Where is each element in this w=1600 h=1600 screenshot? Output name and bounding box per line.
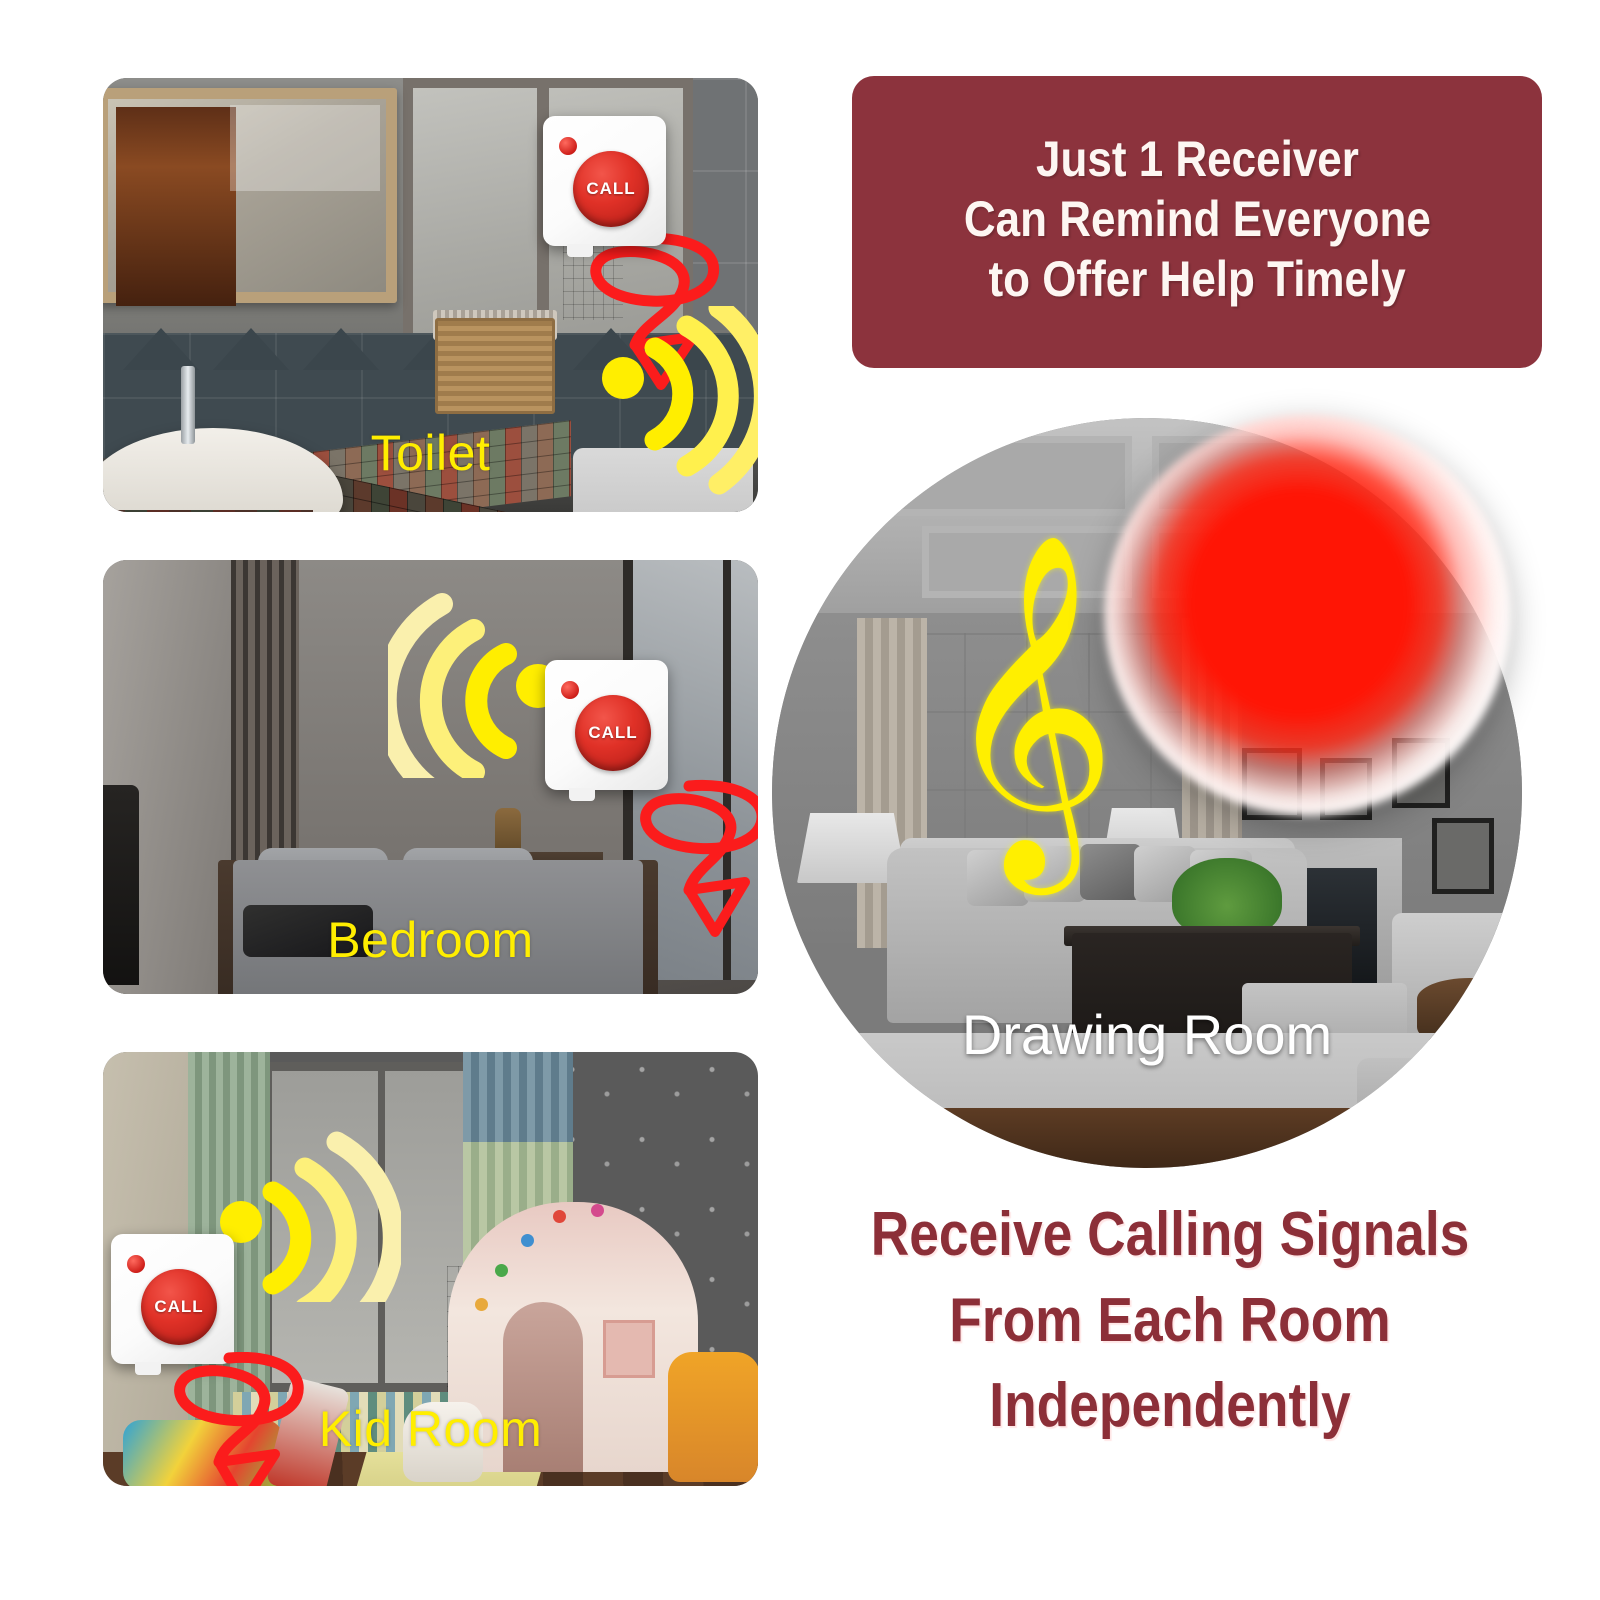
- receiver-device-rim: [1105, 415, 1510, 815]
- room-card-kidroom: CALL Kid Room: [103, 1052, 758, 1486]
- call-button-device-kidroom[interactable]: CALL: [111, 1234, 234, 1364]
- call-button-label: CALL: [586, 179, 635, 199]
- treble-clef-icon: 𝄞: [940, 585, 1117, 825]
- room-card-toilet: CALL Toilet: [103, 78, 758, 512]
- room-label-kidroom: Kid Room: [103, 1404, 758, 1454]
- footer-text-block: Receive Calling Signals From Each Room I…: [790, 1192, 1550, 1449]
- footer-line-3: Independently: [843, 1363, 1497, 1449]
- call-button-device-toilet[interactable]: CALL: [543, 116, 666, 246]
- room-label-bedroom: Bedroom: [103, 915, 758, 965]
- status-led-icon: [127, 1255, 145, 1273]
- call-button-label: CALL: [154, 1297, 203, 1317]
- headline-line-2: Can Remind Everyone: [963, 189, 1430, 249]
- footer-line-1: Receive Calling Signals: [843, 1192, 1497, 1278]
- status-led-icon: [561, 681, 579, 699]
- room-label-drawing-room: Drawing Room: [772, 1002, 1522, 1067]
- headline-banner: Just 1 Receiver Can Remind Everyone to O…: [852, 76, 1542, 368]
- headline-line-3: to Offer Help Timely: [988, 249, 1405, 309]
- call-button[interactable]: CALL: [575, 695, 651, 771]
- call-button-device-bedroom[interactable]: CALL: [545, 660, 668, 790]
- room-card-bedroom: CALL Bedroom: [103, 560, 758, 994]
- status-led-icon: [559, 137, 577, 155]
- call-button[interactable]: CALL: [573, 151, 649, 227]
- call-button[interactable]: CALL: [141, 1269, 217, 1345]
- call-button-label: CALL: [588, 723, 637, 743]
- headline-line-1: Just 1 Receiver: [1036, 129, 1359, 189]
- room-label-toilet: Toilet: [103, 428, 758, 478]
- footer-line-2: From Each Room: [843, 1278, 1497, 1364]
